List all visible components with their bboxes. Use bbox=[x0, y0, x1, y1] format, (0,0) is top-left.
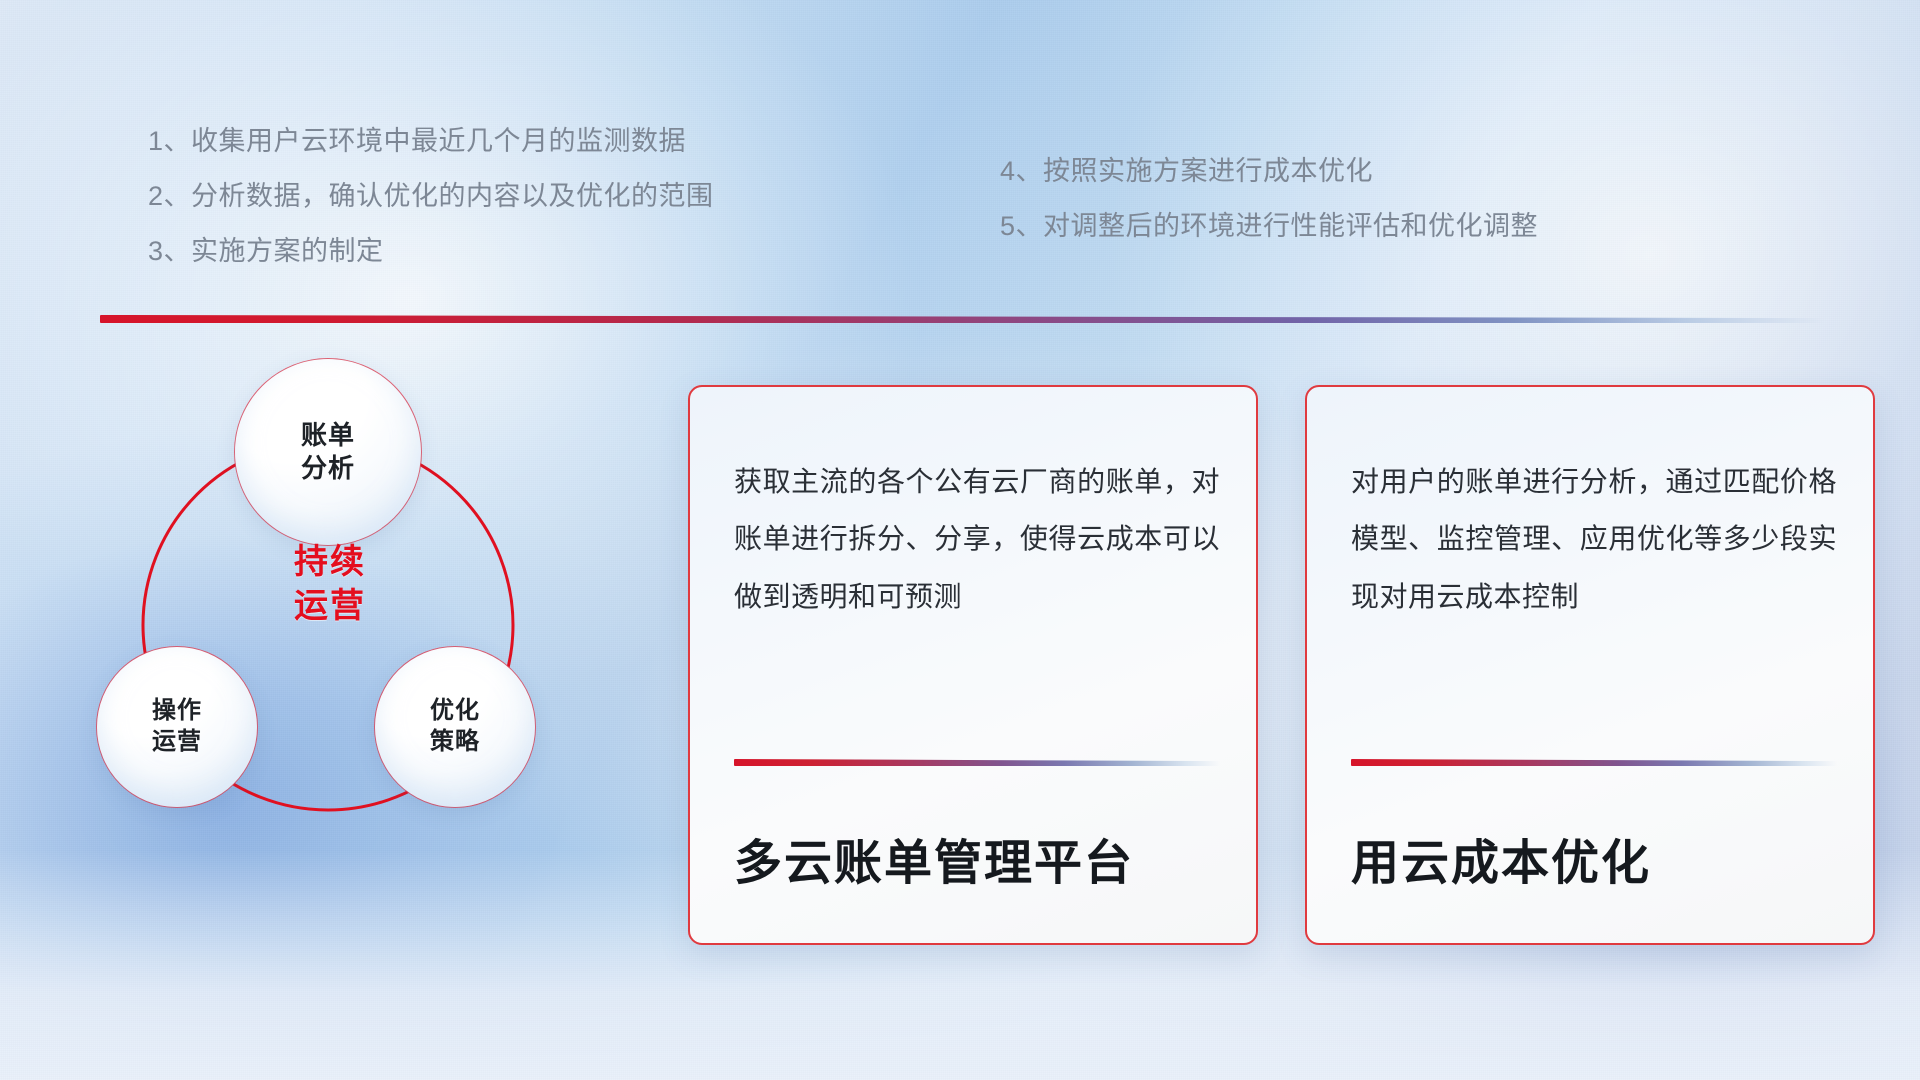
step-item-1: 1、收集用户云环境中最近几个月的监测数据 bbox=[148, 128, 714, 155]
card-cloud-cost-optimization[interactable]: 对用户的账单进行分析，通过匹配价格模型、监控管理、应用优化等多少段实现对用云成本… bbox=[1305, 385, 1875, 945]
bubble-optimize-strategy[interactable]: 优化 策略 bbox=[375, 647, 535, 807]
steps-list-left: 1、收集用户云环境中最近几个月的监测数据 2、分析数据，确认优化的内容以及优化的… bbox=[148, 128, 714, 293]
card-multi-cloud-bill-platform[interactable]: 获取主流的各个公有云厂商的账单，对账单进行拆分、分享，使得云成本可以做到透明和可… bbox=[688, 385, 1258, 945]
center-label-line2: 运营 bbox=[245, 584, 415, 628]
center-label-line1: 持续 bbox=[245, 540, 415, 584]
card-1-body: 获取主流的各个公有云厂商的账单，对账单进行拆分、分享，使得云成本可以做到透明和可… bbox=[734, 453, 1220, 625]
bubble-optimize-strategy-line1: 优化 bbox=[430, 696, 480, 727]
bubble-bill-analysis-line1: 账单 bbox=[301, 419, 355, 452]
step-item-4: 4、按照实施方案进行成本优化 bbox=[1000, 158, 1538, 185]
continuous-operation-diagram: 账单 分析 操作 运营 优化 策略 持续 运营 bbox=[95, 355, 615, 915]
step-item-2: 2、分析数据，确认优化的内容以及优化的范围 bbox=[148, 183, 714, 210]
steps-list-right: 4、按照实施方案进行成本优化 5、对调整后的环境进行性能评估和优化调整 bbox=[1000, 158, 1538, 268]
bubble-bill-analysis-line2: 分析 bbox=[301, 452, 355, 485]
card-2-title: 用云成本优化 bbox=[1351, 823, 1843, 893]
bubble-bill-analysis[interactable]: 账单 分析 bbox=[235, 359, 421, 545]
bubble-operations-line1: 操作 bbox=[152, 696, 202, 727]
card-2-rule bbox=[1351, 759, 1837, 766]
bubble-optimize-strategy-line2: 策略 bbox=[430, 727, 480, 758]
bubble-operations-line2: 运营 bbox=[152, 727, 202, 758]
step-item-3: 3、实施方案的制定 bbox=[148, 238, 714, 265]
card-1-title: 多云账单管理平台 bbox=[734, 823, 1226, 893]
card-2-body: 对用户的账单进行分析，通过匹配价格模型、监控管理、应用优化等多少段实现对用云成本… bbox=[1351, 453, 1837, 625]
bubble-operations[interactable]: 操作 运营 bbox=[97, 647, 257, 807]
step-item-5: 5、对调整后的环境进行性能评估和优化调整 bbox=[1000, 213, 1538, 240]
card-1-rule bbox=[734, 759, 1220, 766]
diagram-center-label: 持续 运营 bbox=[245, 540, 415, 628]
